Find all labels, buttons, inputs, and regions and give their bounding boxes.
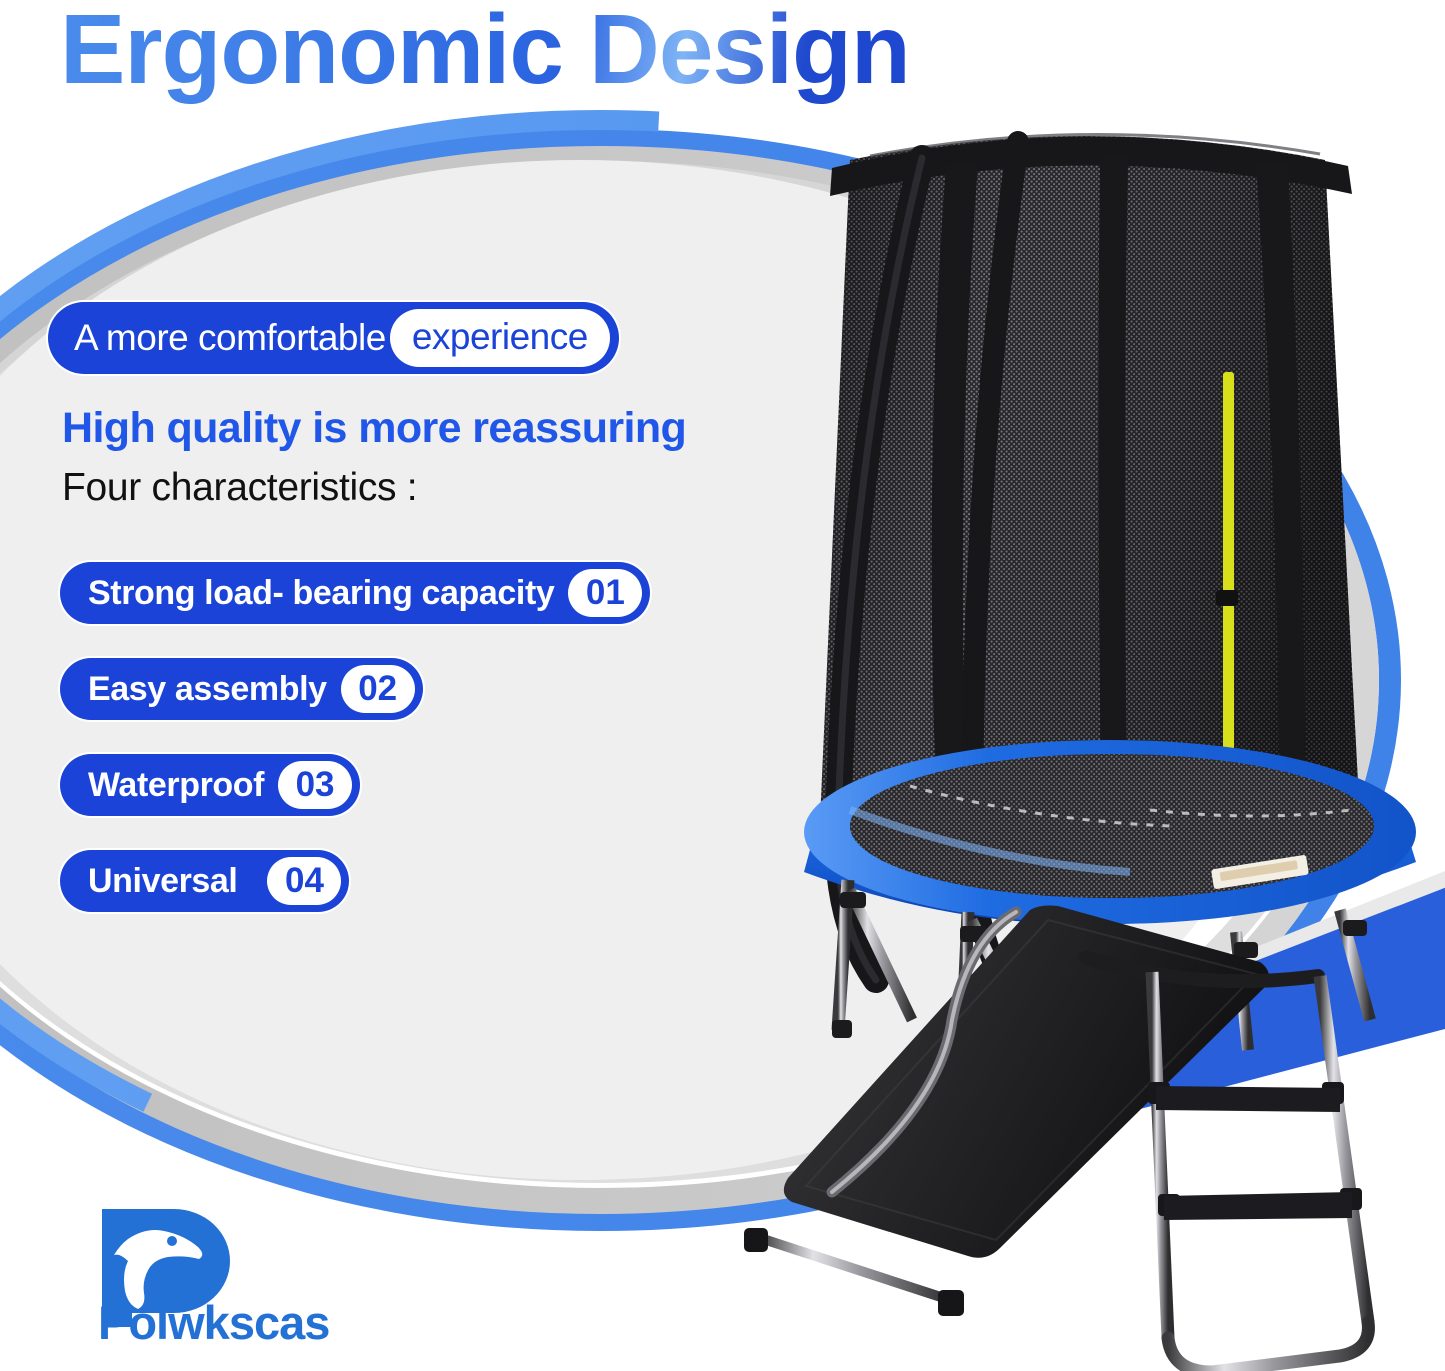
- hero-badge-text: A more comfortable: [74, 317, 390, 359]
- blue-spring-safety-pad: [804, 740, 1416, 925]
- page-title: Ergonomic Design: [60, 0, 1260, 104]
- slide-ramp: [744, 906, 1269, 1317]
- infographic-canvas: Ergonomic Design A more comfortable expe…: [0, 0, 1445, 1371]
- brand-name: Polwkscas: [98, 1295, 428, 1350]
- characteristics-intro: Four characteristics :: [62, 466, 417, 510]
- slide-foot-right: [938, 1290, 964, 1316]
- feature-pill-3: Waterproof 03: [60, 754, 360, 816]
- feature-pill-1: Strong load- bearing capacity 01: [60, 562, 650, 624]
- product-illustration: [700, 120, 1445, 1371]
- feature-label-2: Easy assembly: [88, 670, 341, 709]
- feature-label-4: Universal: [88, 862, 267, 901]
- feature-label-1: Strong load- bearing capacity: [88, 574, 568, 613]
- ladder-step-2: [1164, 1192, 1352, 1220]
- feature-number-2: 02: [341, 665, 415, 713]
- slide-foot-left: [744, 1228, 768, 1252]
- feature-pill-2: Easy assembly 02: [60, 658, 423, 720]
- hero-badge-highlight: experience: [390, 309, 610, 367]
- feature-label-3: Waterproof: [88, 766, 278, 805]
- feature-number-4: 04: [267, 857, 341, 905]
- hero-badge: A more comfortable experience: [48, 302, 619, 374]
- brand-logo: Polwkscas: [98, 1205, 428, 1355]
- sub-headline: High quality is more reassuring: [62, 404, 686, 453]
- ladder-step-1: [1156, 1086, 1340, 1112]
- feature-number-1: 01: [568, 569, 642, 617]
- feature-number-3: 03: [278, 761, 352, 809]
- feature-pill-4: Universal 04: [60, 850, 349, 912]
